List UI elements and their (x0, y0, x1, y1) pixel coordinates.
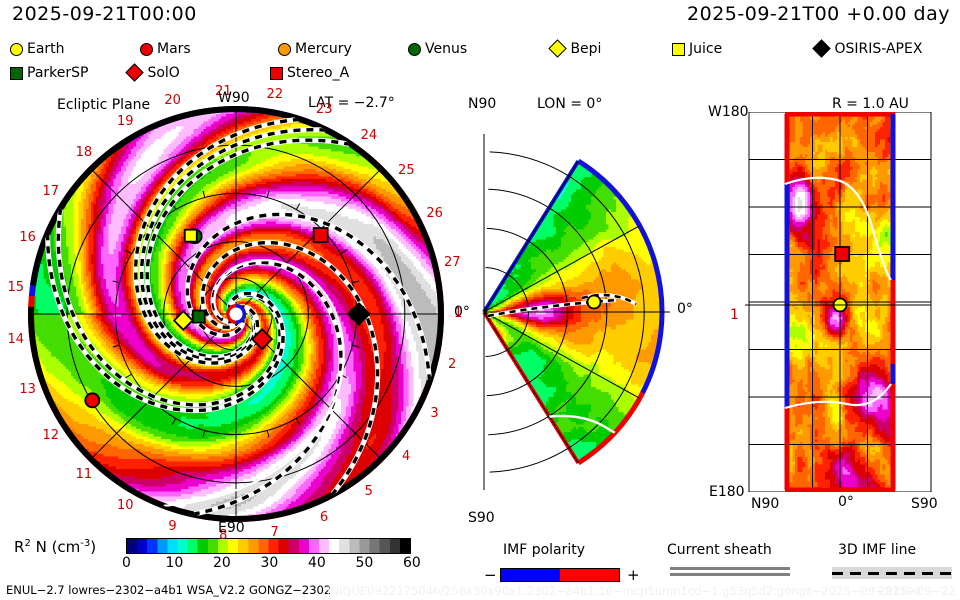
legend-item-label: Stereo_A (287, 65, 349, 81)
body-marker-parkersp (193, 311, 205, 323)
colorbar-ticks: 0102030405060 (118, 555, 418, 573)
diamond-marker-icon (125, 64, 143, 82)
body-marker-stereo-a (835, 247, 849, 261)
watermark-date: 2025−09−22 (878, 584, 956, 598)
legend-item-bepi: Bepi (548, 38, 601, 60)
body-marker-stereo-a (314, 228, 328, 242)
carrington-longitude-tick: 10 (117, 498, 134, 513)
legend-item-venus: Venus (408, 38, 467, 60)
carrington-longitude-tick: 4 (402, 449, 410, 464)
legend-item-osiris-apex: OSIRIS-APEX (812, 38, 922, 60)
run-info-footer: ENUL−2.7 lowres−2302−a4b1 WSA_V2.2 GONGZ… (6, 583, 331, 597)
carrington-longitude-tick: 16 (19, 230, 36, 245)
legend-item-juice: Juice (672, 38, 722, 60)
colorbar-tick-label: 0 (122, 555, 131, 571)
carrington-longitude-tick: 24 (361, 128, 378, 143)
carrington-longitude-tick: 20 (164, 93, 181, 108)
carrington-longitude-tick: 12 (43, 428, 60, 443)
shell-xlabel-n90: N90 (751, 496, 779, 512)
body-marker-juice (185, 230, 197, 242)
carrington-longitude-tick: 23 (316, 102, 333, 117)
legend-item-label: ParkerSP (27, 65, 88, 81)
body-marker-earth (588, 296, 601, 309)
legend-item-parkersp: ParkerSP (10, 62, 88, 84)
sun-marker (230, 308, 243, 321)
imf-negative-swatch (501, 569, 560, 581)
meridional-plane-plot (466, 112, 681, 512)
carrington-longitude-tick: 13 (19, 382, 36, 397)
carrington-longitude-tick: 27 (444, 255, 461, 270)
shell-e180-label: E180 (709, 484, 745, 500)
legend-item-label: Venus (425, 41, 467, 57)
carrington-longitude-tick: 19 (117, 114, 134, 129)
imf-positive-swatch (560, 569, 619, 581)
shell-xlabel-zero: 0° (838, 494, 854, 510)
circle-marker-icon (408, 43, 421, 56)
header-datetime-right: 2025-09-21T00 +0.00 day (687, 3, 950, 25)
circle-marker-icon (140, 43, 153, 56)
carrington-longitude-tick: 15 (8, 280, 25, 295)
legend-item-label: Bepi (570, 41, 601, 57)
constant-radius-shell-plot (745, 112, 935, 492)
header-datetime-left: 2025-09-21T00:00 (12, 3, 197, 25)
legend-item-earth: Earth (10, 38, 65, 60)
colorbar-tick-label: 50 (356, 555, 374, 571)
legend-item-label: Mercury (295, 41, 352, 57)
colorbar-tick-label: 60 (403, 555, 421, 571)
shell-w180-label: W180 (708, 104, 749, 120)
legend-item-label: OSIRIS-APEX (834, 41, 922, 57)
current-sheath-swatch (670, 567, 790, 579)
colorbar-tick-label: 10 (166, 555, 184, 571)
carrington-longitude-tick: 6 (320, 510, 328, 525)
imf-polarity-title: IMF polarity (503, 542, 585, 558)
legend-item-stereo-a: Stereo_A (270, 62, 349, 84)
imf-polarity-bar (500, 568, 620, 582)
carrington-longitude-tick: 26 (426, 206, 443, 221)
carrington-longitude-tick: 3 (430, 406, 438, 421)
meridional-north-label: N90 (468, 96, 496, 112)
legend-item-label: Juice (689, 41, 722, 57)
watermark-text: UNIQUE0922175046/256x30x90x1.2302−a4b1.1… (322, 584, 921, 598)
imf-negative-sign: − (484, 566, 497, 584)
carrington-longitude-tick: 5 (365, 484, 373, 499)
legend-item-mercury: Mercury (278, 38, 352, 60)
circle-marker-icon (278, 43, 291, 56)
carrington-longitude-tick: 14 (8, 332, 25, 347)
diamond-marker-icon (812, 40, 830, 58)
carrington-longitude-tick: 22 (267, 87, 284, 102)
shell-xlabel-s90: S90 (911, 496, 938, 512)
carrington-longitude-tick: 9 (168, 519, 176, 534)
carrington-longitude-tick: 17 (43, 184, 60, 199)
square-marker-icon (10, 67, 23, 80)
legend-item-label: SolO (147, 65, 179, 81)
ecliptic-plane-plot (26, 104, 446, 524)
carrington-longitude-tick: 25 (398, 163, 415, 178)
legend-item-label: Mars (157, 41, 191, 57)
square-marker-icon (270, 67, 283, 80)
colorbar-tick-label: 30 (261, 555, 279, 571)
imf-positive-sign: + (627, 566, 640, 584)
meridional-south-label: S90 (468, 510, 495, 526)
imf-line-title: 3D IMF line (838, 542, 916, 558)
ecliptic-svg (26, 104, 446, 524)
colorbar-tick-label: 20 (213, 555, 231, 571)
ecliptic-zero-label: 0° (454, 304, 470, 320)
legend-item-solo: SolO (125, 62, 180, 84)
colorbar-label: R2 N (cm-3) (14, 538, 96, 556)
meridional-lon-label: LON = 0° (537, 96, 602, 112)
body-marker-mars (85, 393, 99, 407)
imf-line-swatch (832, 567, 952, 579)
shell-svg (745, 112, 935, 492)
ecliptic-w90-label: W90 (218, 90, 250, 106)
diamond-marker-icon (548, 40, 566, 58)
colorbar-tick-label: 40 (308, 555, 326, 571)
meridional-svg (466, 112, 681, 512)
square-marker-icon (672, 43, 685, 56)
carrington-longitude-tick: 11 (76, 467, 93, 482)
current-sheath-title: Current sheath (667, 542, 772, 558)
legend-item-mars: Mars (140, 38, 191, 60)
ecliptic-e90-label: E90 (218, 520, 245, 536)
shell-y-tick-label: 1 (730, 307, 739, 323)
carrington-longitude-tick: 7 (271, 525, 279, 540)
carrington-longitude-tick: 18 (76, 145, 93, 160)
circle-marker-icon (10, 43, 23, 56)
carrington-longitude-tick: 2 (448, 357, 456, 372)
legend-item-label: Earth (27, 41, 65, 57)
shell-panel-title: R = 1.0 AU (832, 96, 909, 112)
colorbar-gradient (126, 538, 411, 554)
